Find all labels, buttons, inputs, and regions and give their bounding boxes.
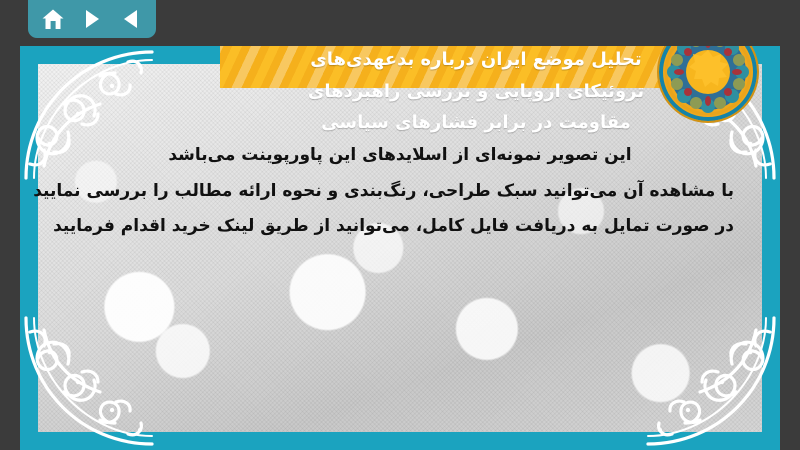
slide-body-text: این تصویر نمونه‌ای از اسلایدهای این پاور… [20, 138, 780, 245]
previous-slide-button[interactable] [116, 4, 146, 34]
arc-decoration-bottom-left [38, 242, 226, 432]
next-slide-button[interactable] [77, 4, 107, 34]
home-button[interactable] [38, 4, 68, 34]
banner-chevron-pattern [220, 46, 702, 88]
triangle-right-icon [82, 8, 102, 30]
slide-viewer: تحلیل موضع ایران درباره بدعهدی‌های تروئی… [0, 0, 800, 450]
slide-body-line-2: با مشاهده آن می‌توانید سبک طراحی، رنگ‌بن… [66, 174, 734, 210]
mandala-medallion-icon [656, 46, 760, 124]
slide-content-area [38, 64, 762, 432]
triangle-left-icon [121, 8, 141, 30]
slide-navigation-bar [28, 0, 156, 38]
home-icon [41, 8, 65, 31]
arc-decoration-bottom-right [574, 242, 762, 432]
presentation-slide[interactable]: تحلیل موضع ایران درباره بدعهدی‌های تروئی… [20, 46, 780, 450]
slide-body-line-1: این تصویر نمونه‌ای از اسلایدهای این پاور… [66, 138, 734, 174]
slide-body-line-3: در صورت تمایل به دریافت فایل کامل، می‌تو… [66, 209, 734, 245]
